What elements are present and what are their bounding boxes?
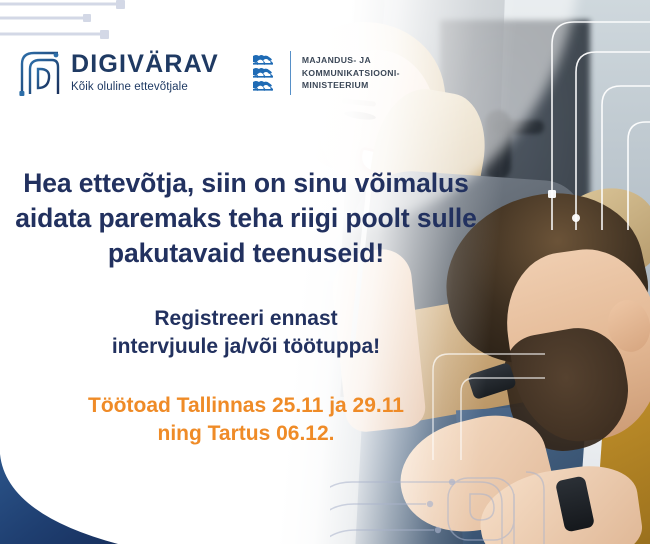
brand-name: DIGIVÄRAV xyxy=(71,52,219,77)
subhead-line-1: Registreeri ennast xyxy=(0,305,492,333)
digivarav-logo[interactable]: DIGIVÄRAV Kõik oluline ettevõtjale xyxy=(18,50,219,96)
headline-line-3: pakutavaid teenuseid! xyxy=(0,236,492,271)
vertical-divider-icon xyxy=(290,51,291,95)
horizontal-rule-decor-icon xyxy=(0,0,140,44)
subhead-line-2: intervjuule ja/või töötuppa! xyxy=(0,333,492,361)
brand-tagline: Kõik oluline ettevõtjale xyxy=(71,82,219,94)
subhead: Registreeri ennast intervjuule ja/või tö… xyxy=(0,305,492,361)
headline-line-2: aidata paremaks teha riigi poolt sulle xyxy=(0,201,492,236)
logo-row: DIGIVÄRAV Kõik oluline ettevõtjale xyxy=(18,50,400,96)
digivarav-wordmark: DIGIVÄRAV Kõik oluline ettevõtjale xyxy=(71,52,219,94)
headline: Hea ettevõtja, siin on sinu võimalus aid… xyxy=(0,166,492,271)
dates-line-1: Töötoad Tallinnas 25.11 ja 29.11 xyxy=(0,392,492,420)
ministry-name: MAJANDUS- JA KOMMUNIKATSIOONI- MINISTEER… xyxy=(302,54,400,93)
navy-corner-swoosh-icon xyxy=(0,454,130,544)
workshop-dates: Töötoad Tallinnas 25.11 ja 29.11 ning Ta… xyxy=(0,392,492,449)
estonian-coat-of-arms-three-lions-icon xyxy=(251,53,279,93)
headline-line-1: Hea ettevõtja, siin on sinu võimalus xyxy=(0,166,492,201)
dates-line-2: ning Tartus 06.12. xyxy=(0,420,492,448)
promo-banner: DIGIVÄRAV Kõik oluline ettevõtjale xyxy=(0,0,650,544)
ministry-logo[interactable]: MAJANDUS- JA KOMMUNIKATSIOONI- MINISTEER… xyxy=(251,51,400,95)
digivarav-spiral-mark-icon xyxy=(18,50,62,96)
